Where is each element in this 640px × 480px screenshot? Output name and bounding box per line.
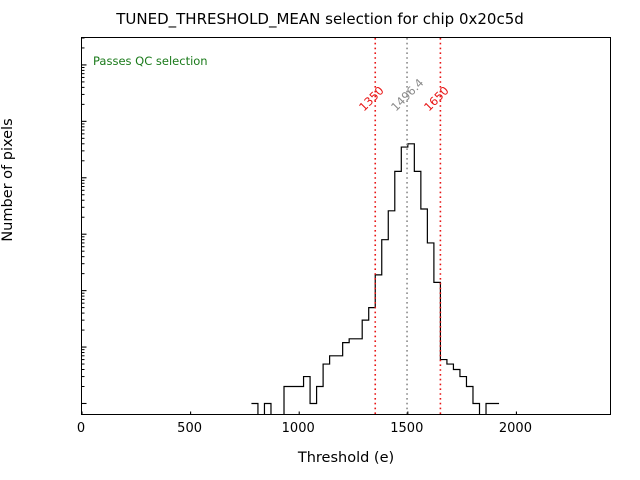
figure: TUNED_THRESHOLD_MEAN selection for chip … <box>0 0 640 480</box>
x-tick-label: 1500 <box>390 421 423 436</box>
plot-axes: Passes QC selection <box>81 37 611 415</box>
x-tick-label: 0 <box>77 421 85 436</box>
x-tick-label: 2000 <box>499 421 532 436</box>
chart-title: TUNED_THRESHOLD_MEAN selection for chip … <box>0 10 640 28</box>
qc-status-annotation: Passes QC selection <box>93 54 208 68</box>
x-tick-label: 500 <box>177 421 202 436</box>
histogram-plot <box>82 38 611 415</box>
x-tick-label: 1000 <box>282 421 315 436</box>
x-axis-label: Threshold (e) <box>81 450 611 466</box>
y-axis-label: Number of pixels <box>0 0 16 370</box>
